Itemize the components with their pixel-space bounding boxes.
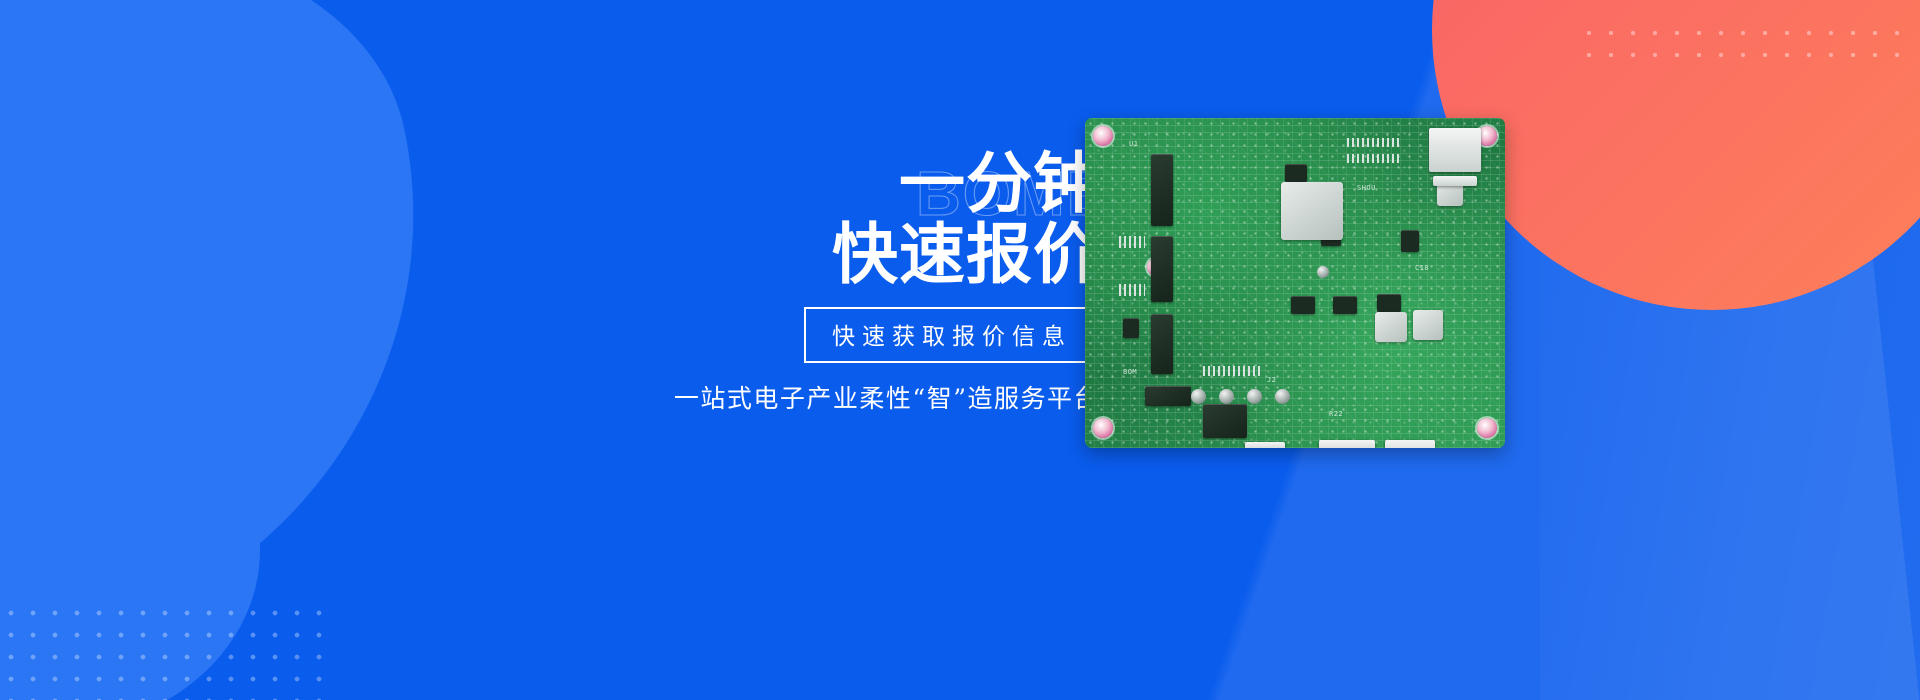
dot-grid-bottom-left (0, 596, 324, 700)
pcb-ic-chip (1123, 318, 1139, 338)
tagline: 一站式电子产业柔性“智”造服务平台 (640, 379, 1100, 415)
cta-boxed-label[interactable]: 快速获取报价信息 (804, 307, 1100, 363)
pcb-inductor (1375, 312, 1407, 342)
pcb-capacitor (1247, 389, 1262, 404)
pcb-ic-chip (1203, 404, 1247, 438)
pcb-connector-port (1429, 128, 1481, 172)
pcb-silkscreen-label: J2 (1267, 376, 1276, 384)
page-title: 一分钟 快速报价 (640, 150, 1100, 289)
pcb-connector-port (1319, 440, 1375, 448)
pcb-pin-header (1119, 236, 1145, 248)
pcb-ic-chip (1285, 164, 1307, 182)
pcb-silkscreen-label: U1 (1129, 140, 1138, 148)
pcb-inductor (1413, 310, 1443, 340)
pcb-pin-header (1203, 366, 1263, 376)
pcb-capacitor (1219, 389, 1234, 404)
pcb-ic-chip (1151, 154, 1173, 226)
pcb-board-image: SHOU BOM U1 J2 C18 R22 (1085, 118, 1505, 448)
pcb-pin-header (1347, 154, 1401, 163)
dot-grid-top-right (1574, 18, 1904, 62)
headline-line-2: 快速报价 (640, 221, 1100, 288)
pcb-capacitor (1275, 389, 1290, 404)
pcb-pin-header (1119, 284, 1145, 296)
pcb-ic-chip (1151, 236, 1173, 302)
pcb-silkscreen-label: SHOU (1357, 184, 1376, 192)
pcb-ic-chip (1151, 314, 1173, 374)
headline-line-1: 一分钟 (640, 150, 1100, 217)
pcb-connector-port (1245, 442, 1285, 448)
pcb-processor (1281, 182, 1343, 240)
pcb-ic-chip (1377, 294, 1401, 312)
pcb-connector-port (1433, 176, 1477, 186)
pcb-connector-port (1385, 440, 1435, 448)
pcb-mount-hole (1477, 418, 1497, 438)
promo-banner: BOMBOM 一分钟 快速报价 快速获取报价信息 一站式电子产业柔性“智”造服务… (0, 0, 1920, 700)
pcb-mount-hole (1093, 126, 1113, 146)
pcb-ic-chip (1145, 386, 1191, 406)
pcb-silkscreen-label: R22 (1329, 410, 1343, 418)
pcb-pin-header (1347, 138, 1401, 147)
pcb-ic-chip (1333, 296, 1357, 314)
pcb-capacitor (1191, 389, 1206, 404)
pcb-silkscreen-label: BOM (1123, 368, 1137, 376)
pcb-substrate: SHOU BOM U1 J2 C18 R22 (1085, 118, 1505, 448)
pcb-silkscreen-label: C18 (1415, 264, 1429, 272)
pcb-mount-hole (1093, 418, 1113, 438)
pcb-ic-chip (1291, 296, 1315, 314)
headline-block: BOMBOM 一分钟 快速报价 快速获取报价信息 一站式电子产业柔性“智”造服务… (640, 150, 1100, 415)
pcb-capacitor (1317, 266, 1329, 278)
pcb-ic-chip (1401, 230, 1419, 252)
